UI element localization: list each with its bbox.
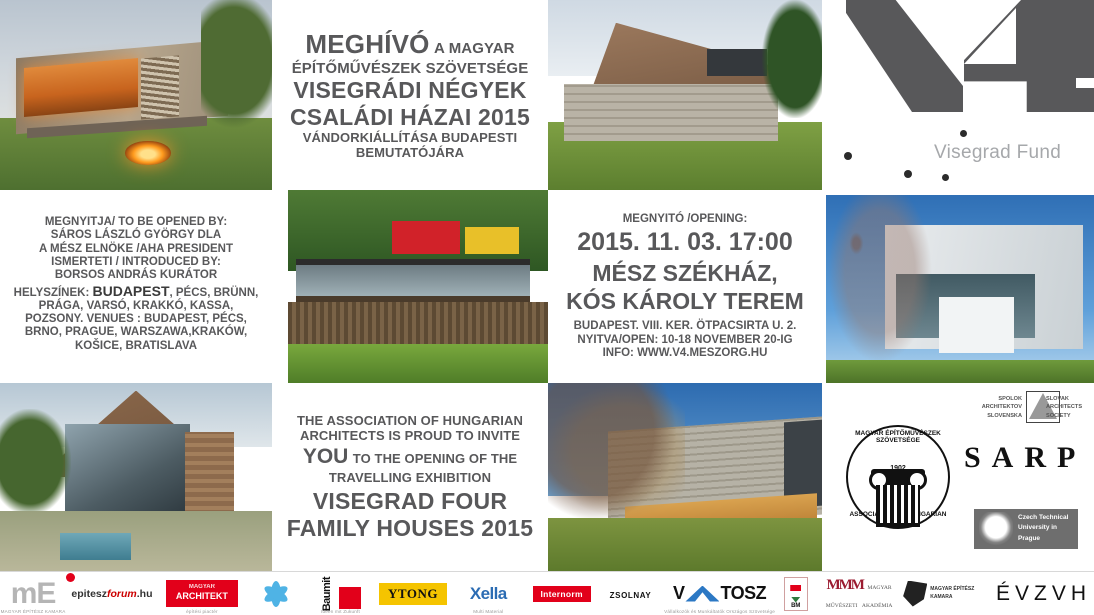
venues-budapest-highlight: BUDAPEST (92, 283, 169, 299)
baumit-square-icon (339, 587, 361, 609)
opened-by-line2: SÁROS LÁSZLÓ GYÖRGY DLA (6, 229, 266, 242)
ctu-label: Czech Technical University in Prague (1018, 513, 1078, 544)
baumit-logo: Baumit (321, 577, 361, 611)
opened-by-line3: A MÉSZ ELNÖKE /AHA PRESIDENT (6, 243, 266, 256)
me-sub-label: MAGYAR ÉPÍTÉSZ KAMARA (0, 609, 66, 614)
mma-mark-icon: MMM (826, 577, 862, 593)
internorm-logo: Internorm (533, 586, 591, 602)
ef-part-b: forum (107, 588, 137, 600)
you-word: YOU (303, 445, 349, 468)
baumit-sub-label: Ideen mit Zukunft (307, 609, 375, 614)
mek-mark-icon (903, 581, 927, 607)
opened-by-line6: HELYSZÍNEK: BUDAPEST, PÉCS, BRÜNN, (6, 283, 266, 300)
evzvh-logo: ÉVZVH (996, 582, 1091, 606)
opened-by-line8: POZSONY. VENUES : BUDAPEST, PÉCS, (6, 313, 266, 326)
slovak-architects-society-logo: SPOLOK ARCHITEKTOV SLOVENSKA SLOVAK ARCH… (970, 391, 1092, 427)
invitation-hu-line5: VÁNDORKIÁLLÍTÁSA BUDAPESTI (278, 130, 542, 145)
mma-label-b: AKADÉMIA (862, 603, 892, 609)
a-magyar-text: A MAGYAR (434, 40, 515, 57)
visegrad-dot-icon (844, 152, 852, 160)
v4-logo-icon (836, 0, 1094, 118)
sarp-logo: SARP (964, 441, 1086, 475)
partner-logos-cell: MAGYAR ÉPÍTŐMŰVÉSZEK SZÖVETSÉGE ASSOCIAT… (822, 383, 1094, 571)
bm-label: BM (791, 603, 800, 609)
photo-colorbox-house (288, 190, 548, 383)
sponsor-internorm: Internorm (525, 572, 598, 615)
visegrad-fund-label: Visegrad Fund (934, 142, 1061, 164)
xella-logo: Xella (470, 584, 507, 604)
sponsor-bm: BM (776, 572, 815, 615)
venues-prefix: HELYSZÍNEK: (14, 287, 93, 299)
opening-datetime: 2015. 11. 03. 17:00 (554, 226, 816, 259)
invitation-en-line2: ARCHITECTS IS PROUD TO INVITE (278, 428, 542, 443)
baumit-wordmark: Baumit (321, 577, 333, 611)
invitation-en-line3: YOU TO THE OPENING OF THE (278, 443, 542, 470)
bau-flower-icon (262, 581, 290, 607)
architekt-logo: MAGYARARCHITEKT (166, 580, 238, 608)
opened-by-line10: KOŠICE, BRATISLAVA (6, 340, 266, 353)
sponsor-mek: MAGYAR ÉPÍTÉSZ KAMARA (903, 572, 993, 615)
lion-icon (979, 512, 1013, 546)
opening-label: MEGNYITÓ /OPENING: (554, 213, 816, 226)
invitation-hu-line6: BEMUTATÓJÁRA (278, 145, 542, 160)
vatosz-part-b: TOSZ (720, 583, 766, 604)
invitation-hu-line1: MEGHÍVÓ A MAGYAR (278, 29, 542, 59)
vatosz-logo: VTOSZ (673, 583, 766, 604)
architekt-sub-label: építési piactér (158, 609, 246, 614)
sponsor-bau (246, 572, 307, 615)
roof-icon (685, 586, 719, 602)
sponsor-evzvh: ÉVZVH (993, 572, 1094, 615)
venue-name-line2: KÓS KÁROLY TEREM (554, 287, 816, 316)
opening-details-block: MEGNYITÓ /OPENING: 2015. 11. 03. 17:00 M… (548, 190, 822, 383)
sponsor-ytong: YTONG (374, 572, 451, 615)
sponsor-epiteszforum: epiteszforum.hu (66, 572, 158, 615)
hungary-coat-of-arms-icon (790, 585, 801, 603)
opened-by-line4: ISMERTETI / INTRODUCED BY: (6, 256, 266, 269)
you-rest-text: TO THE OPENING OF THE (353, 451, 517, 466)
invitation-en-line1: THE ASSOCIATION OF HUNGARIAN (278, 413, 542, 428)
sponsor-baumit: Baumit Ideen mit Zukunft (307, 572, 375, 615)
architekt-top-label: MAGYAR (176, 584, 228, 592)
vatosz-sub-label: Vállalkozók és Munkáltatók Országos Szöv… (663, 609, 777, 614)
invitation-hungarian-block: MEGHÍVÓ A MAGYAR ÉPÍTŐMŰVÉSZEK SZÖVETSÉG… (272, 0, 548, 190)
meghivo-word: MEGHÍVÓ (305, 29, 429, 59)
sponsor-logo-strip: mE MAGYAR ÉPÍTÉSZ KAMARA epiteszforum.hu… (0, 571, 1094, 615)
me-logo: mE (11, 579, 56, 609)
sponsor-architekt: MAGYARARCHITEKT építési piactér (158, 572, 246, 615)
invitation-en-line6: FAMILY HOUSES 2015 (278, 515, 542, 542)
epiteszforum-logo: epiteszforum.hu (71, 588, 152, 600)
photo-stone-cottage (548, 0, 822, 190)
invitation-en-line4: TRAVELLING EXHIBITION (278, 470, 542, 485)
mesz-seal-logo-icon: MAGYAR ÉPÍTŐMŰVÉSZEK SZÖVETSÉGE ASSOCIAT… (846, 425, 950, 529)
xella-sub-label: Multi Material (452, 609, 525, 614)
opened-by-line9: BRNO, PRAGUE, WARSZAWA,KRAKÓW, (6, 326, 266, 339)
photo-stone-long (548, 383, 822, 571)
architekt-label: ARCHITEKT (176, 591, 228, 601)
opened-by-line5: BORSOS ANDRÁS KURÁTOR (6, 269, 266, 282)
sas-right-text: SLOVAK ARCHITECTS SOCIETY (1046, 395, 1092, 420)
opening-info-url[interactable]: INFO: WWW.V4.MESZORG.HU (554, 347, 816, 360)
zsolnay-label: ZSOLNAY (610, 591, 652, 600)
mesz-ring-top-text: MAGYAR ÉPÍTŐMŰVÉSZEK SZÖVETSÉGE (846, 430, 950, 444)
czech-technical-university-logo: Czech Technical University in Prague (974, 509, 1078, 549)
zsolnay-logo: ZSOLNAY (610, 585, 652, 603)
venue-name-line1: MÉSZ SZÉKHÁZ, (554, 259, 816, 288)
visegrad-dot-icon (904, 170, 912, 178)
visegrad-dot-icon (960, 130, 967, 137)
invitation-hu-line4: CSALÁDI HÁZAI 2015 (278, 104, 542, 131)
opening-hours: NYITVA/OPEN: 10-18 NOVEMBER 20-IG (554, 334, 816, 347)
sponsor-mma: MMM MAGYAR MŰVÉSZETI AKADÉMIA (815, 572, 903, 615)
vatosz-part-a: V (673, 583, 685, 604)
opened-by-line7: PRÁGA, VARSÓ, KRAKKÓ, KASSA, (6, 300, 266, 313)
visegrad-fund-caption: Visegrad Fund (830, 130, 1080, 176)
photo-white-modern (826, 195, 1094, 383)
visegrad-dot-icon (942, 174, 949, 181)
invitation-en-line5: VISEGRAD FOUR (278, 488, 542, 515)
venues-suffix: , PÉCS, BRÜNN, (170, 287, 259, 299)
opened-by-block: MEGNYITJA/ TO BE OPENED BY: SÁROS LÁSZLÓ… (0, 190, 272, 383)
invitation-hu-line3: VISEGRÁDI NÉGYEK (278, 77, 542, 104)
invitation-hu-line2: ÉPÍTŐMŰVÉSZEK SZÖVETSÉGE (278, 60, 542, 77)
sponsor-vatosz: VTOSZ Vállalkozók és Munkáltatók Országo… (663, 572, 777, 615)
sas-left-text: SPOLOK ARCHITEKTOV SLOVENSKA (970, 395, 1022, 420)
bm-logo: BM (784, 577, 808, 611)
sponsor-zsolnay: ZSOLNAY (598, 572, 662, 615)
opened-by-line1: MEGNYITJA/ TO BE OPENED BY: (6, 216, 266, 229)
photo-dusk-house (0, 0, 272, 190)
mma-logo: MMM MAGYAR MŰVÉSZETI AKADÉMIA (815, 576, 903, 612)
mesz-year-label: 1902 (890, 465, 906, 472)
mek-logo: MAGYAR ÉPÍTÉSZ KAMARA (903, 581, 993, 607)
sponsor-xella: Xella Multi Material (452, 572, 525, 615)
sponsor-me: mE MAGYAR ÉPÍTÉSZ KAMARA (0, 572, 66, 615)
v4-logo-cell: Visegrad Fund (822, 0, 1094, 190)
venue-address: BUDAPEST. VIII. KER. ÖTPACSIRTA U. 2. (554, 320, 816, 333)
ytong-logo: YTONG (379, 583, 447, 605)
ef-part-c: .hu (137, 588, 153, 600)
ef-part-a: epitesz (71, 588, 107, 600)
photo-gable-glass (0, 383, 272, 571)
invitation-english-block: THE ASSOCIATION OF HUNGARIAN ARCHITECTS … (272, 383, 548, 571)
invitation-poster: MEGHÍVÓ A MAGYAR ÉPÍTŐMŰVÉSZEK SZÖVETSÉG… (0, 0, 1094, 615)
mek-label: MAGYAR ÉPÍTÉSZ KAMARA (930, 586, 993, 601)
